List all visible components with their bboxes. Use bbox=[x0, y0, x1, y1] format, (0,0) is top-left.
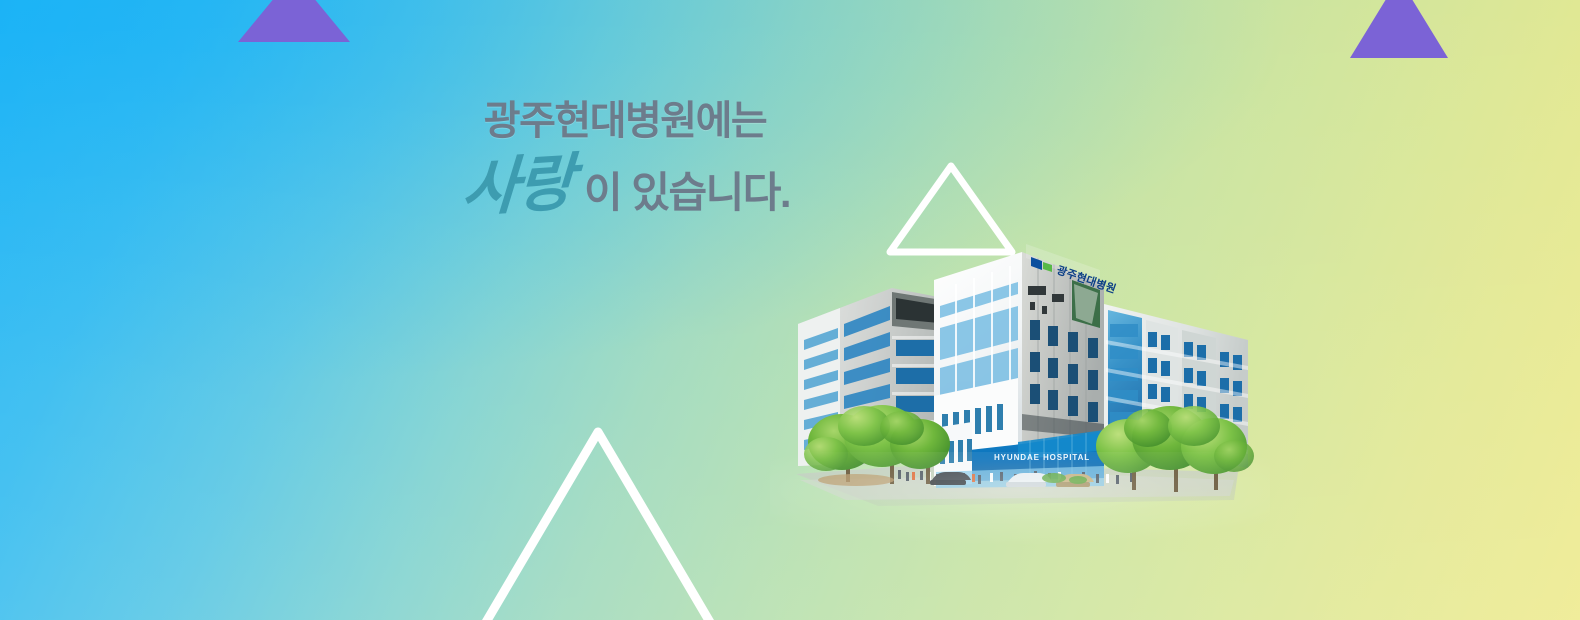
triangle-outline-large-decor bbox=[430, 424, 770, 620]
triangle-purple-left-decor bbox=[238, 0, 350, 42]
entrance-sign-text: HYUNDAE HOSPITAL bbox=[994, 453, 1090, 462]
headline-script-word: 사랑 bbox=[460, 153, 574, 221]
hospital-building-photo: HYUNDAI HOSPITAL bbox=[786, 228, 1254, 528]
central-tower: HYUNDAI HOSPITAL bbox=[934, 237, 1118, 488]
headline-block: 광주현대병원에는 사랑 이 있습니다. bbox=[390, 98, 860, 218]
headline-line-2-tail: 이 있습니다. bbox=[584, 172, 790, 218]
headline-line-1: 광주현대병원에는 bbox=[390, 98, 860, 145]
hero-banner: 광주현대병원에는 사랑 이 있습니다. bbox=[0, 0, 1580, 620]
triangle-purple-right-decor bbox=[1350, 0, 1448, 58]
headline-line-2: 사랑 이 있습니다. bbox=[390, 157, 860, 218]
